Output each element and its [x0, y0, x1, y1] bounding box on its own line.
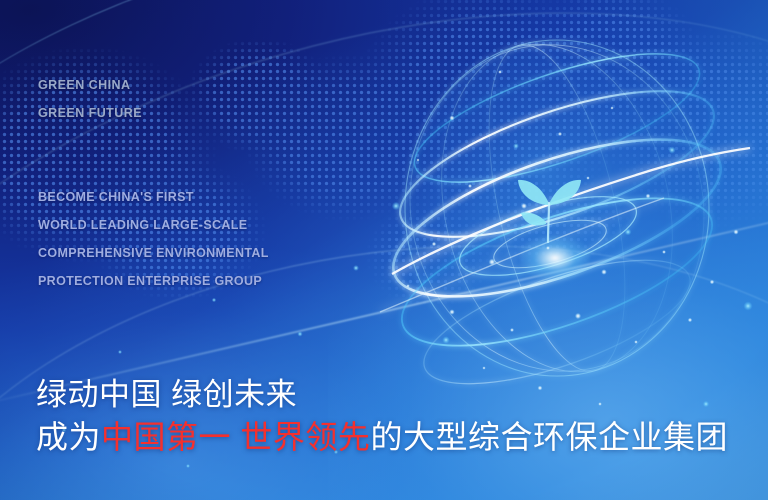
- headline-line-1: 绿动中国 绿创未来: [36, 374, 728, 416]
- tagline-line-2: GREEN FUTURE: [38, 99, 142, 127]
- tagline-top: GREEN CHINA GREEN FUTURE: [38, 71, 142, 127]
- headline-separator: [231, 419, 240, 455]
- slogan-line-3: COMPREHENSIVE ENVIRONMENTAL: [38, 239, 269, 267]
- bottom-right-glow: [328, 220, 768, 500]
- tagline-line-1: GREEN CHINA: [38, 71, 142, 99]
- slogan-line-1: BECOME CHINA'S FIRST: [38, 183, 269, 211]
- slogan-line-2: WORLD LEADING LARGE-SCALE: [38, 211, 269, 239]
- headline-suffix: 的大型综合环保企业集团: [370, 419, 728, 455]
- slogan-english: BECOME CHINA'S FIRST WORLD LEADING LARGE…: [38, 183, 269, 295]
- headline-accent-china-first: 中国第一: [101, 419, 231, 455]
- headline-line-2: 成为中国第一 世界领先的大型综合环保企业集团: [36, 416, 728, 458]
- headline-prefix: 成为: [36, 419, 101, 455]
- headline-accent-world-leading: 世界领先: [240, 419, 370, 455]
- green-china-banner: GREEN CHINA GREEN FUTURE BECOME CHINA'S …: [0, 0, 768, 500]
- headline-chinese: 绿动中国 绿创未来 成为中国第一 世界领先的大型综合环保企业集团: [36, 374, 728, 458]
- slogan-line-4: PROTECTION ENTERPRISE GROUP: [38, 267, 269, 295]
